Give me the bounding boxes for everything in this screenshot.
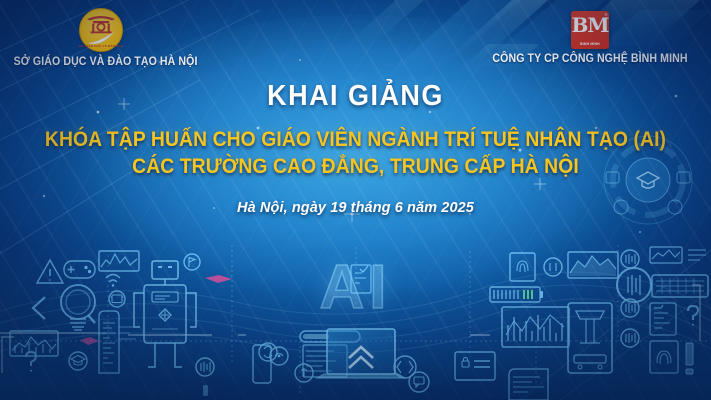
header-right-org: ® BM BINH MINH CÔNG TY CP CÔNG NGHỆ BÌNH…	[475, 8, 705, 65]
candlestick-chart-icon	[502, 307, 569, 347]
battery-icon	[490, 287, 543, 302]
logo-monogram: BM	[571, 15, 609, 35]
laptop-chevron-icon	[317, 329, 405, 378]
header-right-caption: CÔNG TY CP CÔNG NGHỆ BÌNH MINH	[484, 53, 696, 65]
course-title-line-2: CÁC TRƯỜNG CAO ĐẲNG, TRUNG CẤP HÀ NỘI	[28, 153, 682, 180]
gauge-icon	[270, 347, 288, 365]
poster-title-block: KHAI GIẢNG KHÓA TẬP HUẤN CHO GIÁO VIÊN N…	[0, 80, 711, 216]
arrow-chip-icon	[80, 275, 232, 345]
question-mark-icon	[26, 352, 36, 372]
code-window-right-icon	[509, 369, 548, 400]
fingerprint-secondary-icon	[650, 341, 693, 374]
code-brackets-icon	[394, 356, 416, 378]
waveform-icon	[196, 250, 651, 376]
warning-triangle-icon	[37, 260, 63, 283]
gamepad-icon	[64, 261, 95, 278]
course-title-line-1: KHÓA TẬP HUẤN CHO GIÁO VIÊN NGÀNH TRÍ TU…	[28, 126, 682, 153]
poster-canvas: SỞ GIÁO DỤC VÀ ĐÀO TẠO SỞ GIÁO DỤC VÀ ĐÀ…	[0, 0, 711, 400]
fingerprint-icon	[510, 253, 535, 281]
document-icon	[303, 345, 347, 377]
chevron-left-icon	[33, 297, 45, 319]
media-frame-icon	[109, 291, 125, 307]
line-chart-icon	[99, 251, 139, 271]
event-date: Hà Nội, ngày 19 tháng 6 năm 2025	[0, 200, 711, 216]
bar-chart-icon	[10, 331, 58, 356]
graduation-cap-icon	[69, 352, 87, 370]
progress-bar-icon	[300, 331, 360, 342]
exclamation-chip-icon	[203, 385, 208, 396]
header-left-caption: SỞ GIÁO DỤC VÀ ĐÀO TẠO HÀ NỘI	[14, 56, 189, 68]
recycle-icon	[259, 343, 277, 361]
tech-illustration-band	[0, 245, 711, 400]
mini-chart-strip-icon	[650, 247, 706, 263]
area-chart-icon	[568, 252, 618, 278]
hanoi-doet-emblem-icon: SỞ GIÁO DỤC VÀ ĐÀO TẠO	[79, 8, 123, 52]
binh-minh-company-logo-icon: ® BM BINH MINH	[571, 11, 609, 49]
flag-pin-icon	[184, 254, 200, 270]
keyboard-icon	[652, 275, 708, 297]
poster-header: SỞ GIÁO DỤC VÀ ĐÀO TẠO SỞ GIÁO DỤC VÀ ĐÀ…	[0, 0, 711, 90]
compass-icon	[295, 364, 313, 382]
wifi-icon	[106, 275, 120, 287]
idea-magnifier-lightbulb-icon	[61, 285, 95, 330]
3d-printer-icon	[568, 303, 612, 373]
robot-icon	[134, 261, 196, 367]
toggle-icon	[544, 258, 562, 276]
ai-watermark-text: AI	[0, 252, 711, 323]
code-window-icon	[99, 311, 136, 373]
header-left-org: SỞ GIÁO DỤC VÀ ĐÀO TẠO SỞ GIÁO DỤC VÀ ĐÀ…	[6, 8, 196, 68]
checklist-icon	[351, 265, 371, 293]
event-title: KHAI GIẢNG	[25, 80, 686, 112]
emblem-arc-text: SỞ GIÁO DỤC VÀ ĐÀO TẠO	[79, 44, 124, 48]
note-question-icon	[650, 303, 698, 335]
chat-bubble-icon	[409, 372, 429, 392]
lock-card-icon	[455, 352, 495, 380]
smartphone-icon	[253, 345, 271, 383]
logo-subtext: BINH MINH	[571, 42, 609, 46]
